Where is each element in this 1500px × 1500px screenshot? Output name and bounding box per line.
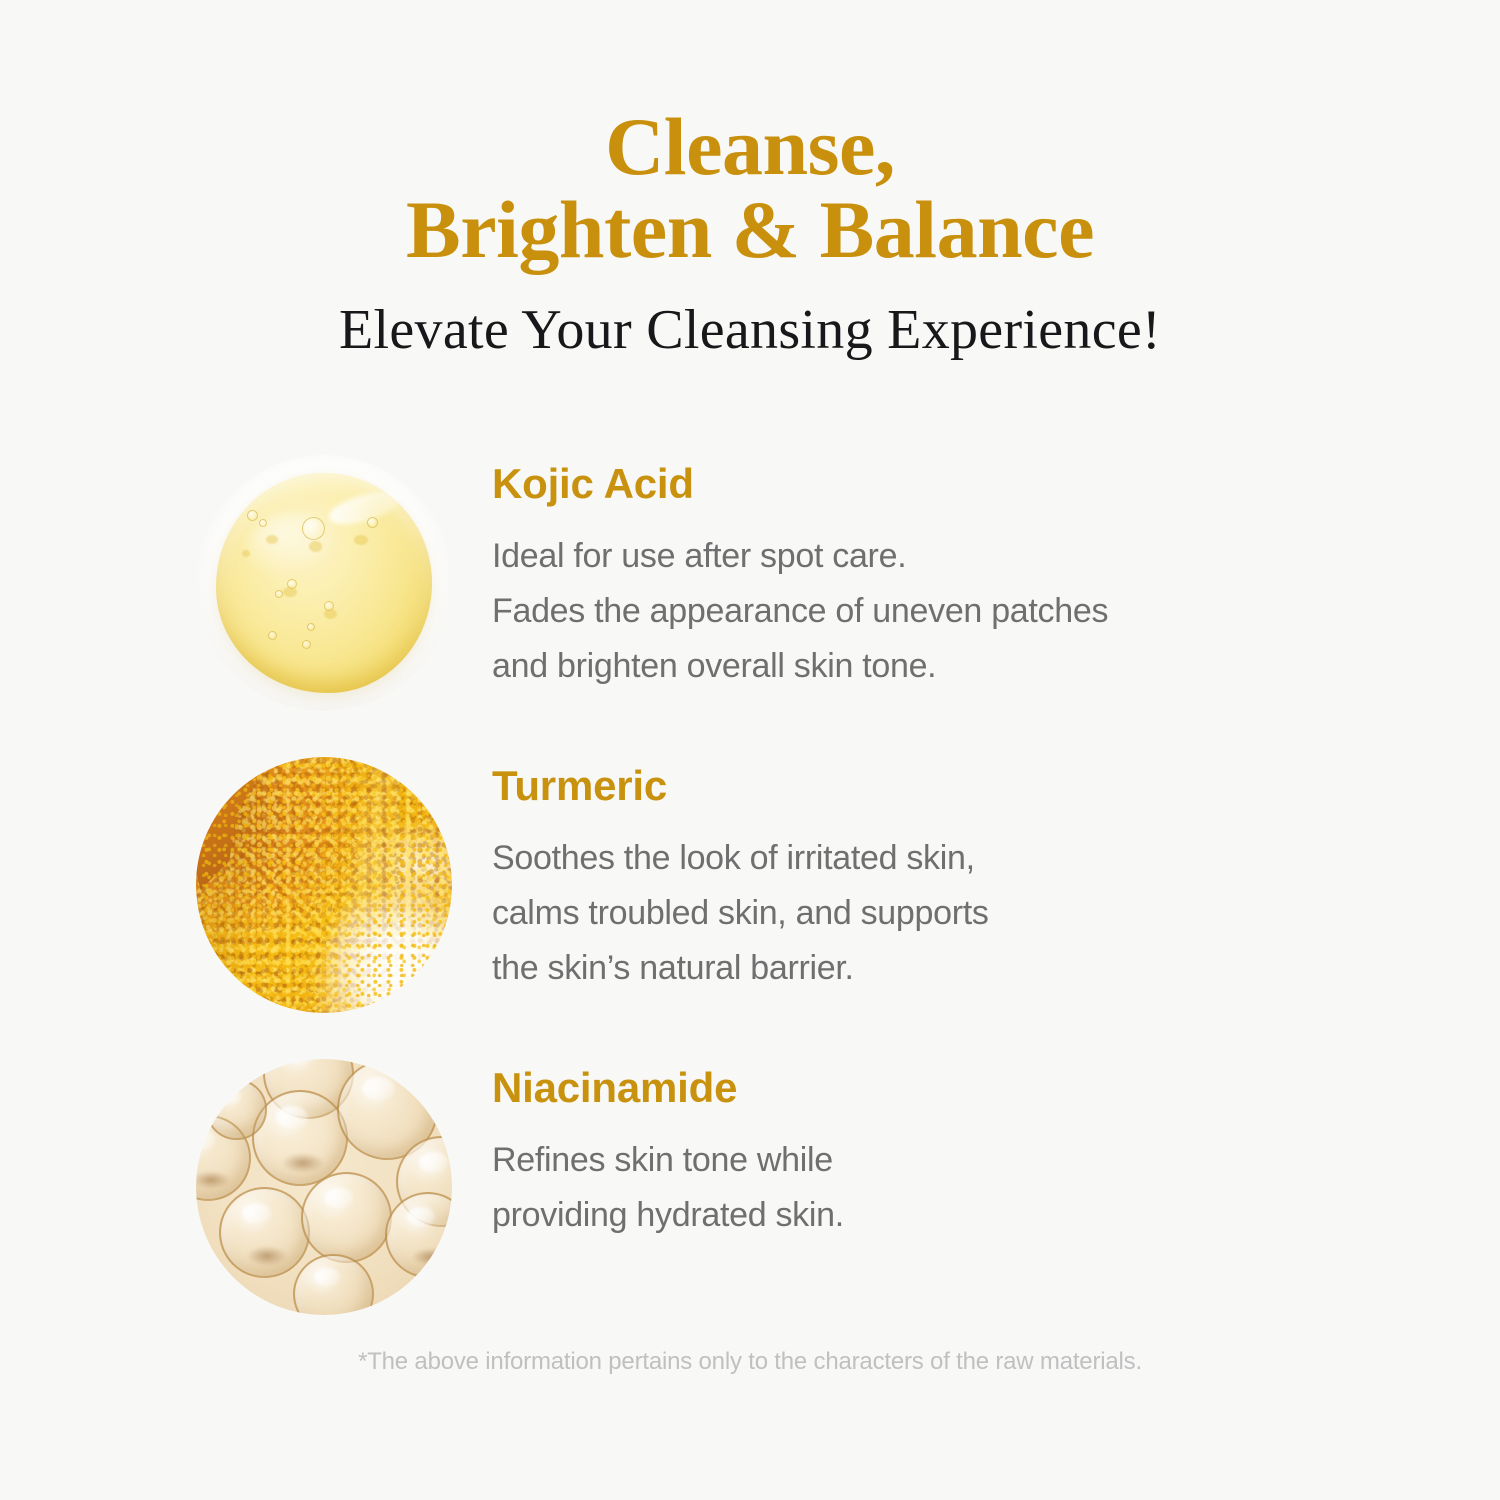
gel-speck [324,609,337,619]
page-subtitle: Elevate Your Cleansing Experience! [0,298,1500,362]
ingredient-name-turmeric: Turmeric [492,765,1372,807]
turmeric-text-block: Turmeric Soothes the look of irritated s… [452,757,1372,996]
ingredient-description-niacinamide: Refines skin tone while providing hydrat… [492,1133,1372,1243]
bubble-sphere [219,1187,310,1278]
description-line: the skin’s natural barrier. [492,941,1372,996]
niacinamide-circle-shape [196,1059,452,1315]
bubble-sphere [301,1172,392,1263]
description-line: calms troubled skin, and supports [492,886,1372,941]
ingredient-name-niacinamide: Niacinamide [492,1067,1372,1109]
ingredient-list: Kojic Acid Ideal for use after spot care… [0,455,1500,1361]
ingredient-row-niacinamide: Niacinamide Refines skin tone while prov… [0,1059,1500,1315]
gel-bubble [275,590,283,598]
ingredient-row-turmeric: Turmeric Soothes the look of irritated s… [0,757,1500,1013]
gel-speck [354,535,368,545]
description-line: and brighten overall skin tone. [492,639,1372,694]
page-header: Cleanse, Brighten & Balance Elevate Your… [0,108,1500,362]
description-line: Soothes the look of irritated skin, [492,831,1372,886]
niacinamide-bubbles-image [196,1059,452,1315]
page-title-line-1: Cleanse, [0,108,1500,185]
description-line: providing hydrated skin. [492,1188,1372,1243]
gel-bubble [302,640,311,649]
ingredient-description-turmeric: Soothes the look of irritated skin, calm… [492,831,1372,996]
gel-highlight [326,485,404,531]
description-line: Refines skin tone while [492,1133,1372,1188]
description-line: Ideal for use after spot care. [492,529,1372,584]
ingredient-description-kojic-acid: Ideal for use after spot care. Fades the… [492,529,1372,694]
gel-speck [283,587,297,597]
page-title-line-2: Brighten & Balance [0,191,1500,268]
bubble-sphere [385,1192,452,1278]
turmeric-powder-image [196,757,452,1013]
bubble-sphere [252,1090,348,1186]
ingredient-row-kojic-acid: Kojic Acid Ideal for use after spot care… [0,455,1500,711]
product-infographic-page: Cleanse, Brighten & Balance Elevate Your… [0,0,1500,1500]
footnote-disclaimer: *The above information pertains only to … [0,1348,1500,1376]
turmeric-thumb-wrapper [196,757,452,1013]
bubble-sphere [206,1079,266,1139]
gel-bubble [247,510,258,521]
ingredient-name-kojic-acid: Kojic Acid [492,463,1372,505]
niacinamide-thumb-wrapper [196,1059,452,1315]
gel-bubble [268,631,277,640]
gel-bubble [367,517,378,528]
turmeric-streak-shading [196,757,452,1013]
kojic-acid-text-block: Kojic Acid Ideal for use after spot care… [452,455,1372,694]
kojic-acid-gel-drop-image [196,455,452,711]
yellow-gel-blob-shape [216,473,431,693]
bubble-sphere [293,1254,374,1315]
gel-speck [266,535,278,544]
niacinamide-text-block: Niacinamide Refines skin tone while prov… [452,1059,1372,1243]
kojic-acid-thumb-wrapper [196,455,452,711]
turmeric-circle-shape [196,757,452,1013]
gel-speck [309,541,322,552]
description-line: Fades the appearance of uneven patches [492,584,1372,639]
gel-bubble [307,623,315,631]
